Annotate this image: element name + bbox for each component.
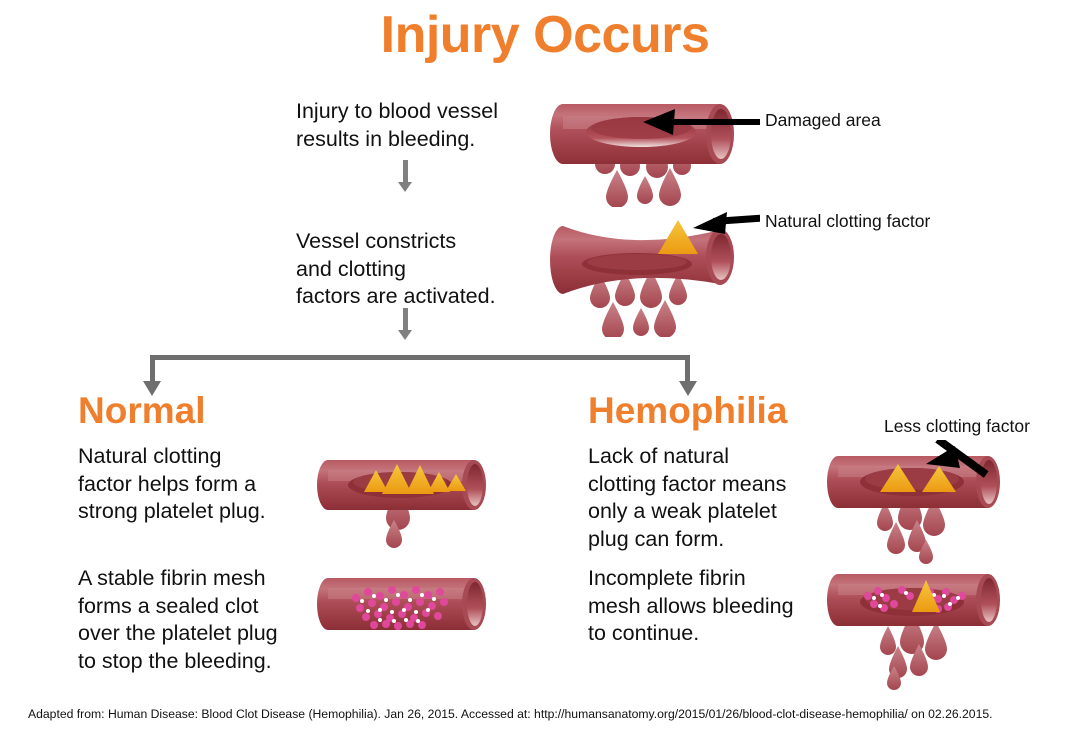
normal-plug-text: Natural clotting factor helps form a str… — [78, 443, 318, 526]
flow-arrow-1 — [398, 160, 412, 192]
vessel-incomplete-fibrin-illustration — [822, 560, 1037, 690]
vessel-constricted-illustration — [545, 212, 760, 337]
hemophilia-plug-text: Lack of natural clotting factor means on… — [588, 443, 838, 553]
callout-less-clotting-factor: Less clotting factor — [884, 416, 1030, 437]
callout-damaged-area: Damaged area — [765, 110, 881, 131]
vessel-stable-fibrin-illustration — [312, 568, 512, 648]
flow-arrow-2 — [398, 308, 412, 340]
vessel-weak-plug-illustration — [822, 440, 1032, 565]
page-title: Injury Occurs — [0, 8, 1090, 63]
hemophilia-fibrin-text: Incomplete fibrin mesh allows bleeding t… — [588, 565, 838, 648]
branch-heading-hemophilia: Hemophilia — [588, 392, 787, 429]
vessel-strong-plug-illustration — [312, 448, 512, 553]
clotting-factor-pointer-arrow — [693, 212, 760, 234]
callout-natural-clotting-factor: Natural clotting factor — [765, 211, 930, 232]
step-constrict-text: Vessel constricts and clotting factors a… — [296, 228, 546, 311]
vessel-injured-illustration — [545, 92, 760, 207]
branch-heading-normal: Normal — [78, 392, 205, 429]
source-citation: Adapted from: Human Disease: Blood Clot … — [28, 707, 1068, 721]
step-injury-text: Injury to blood vessel results in bleedi… — [296, 98, 546, 153]
normal-fibrin-text: A stable fibrin mesh forms a sealed clot… — [78, 565, 328, 675]
